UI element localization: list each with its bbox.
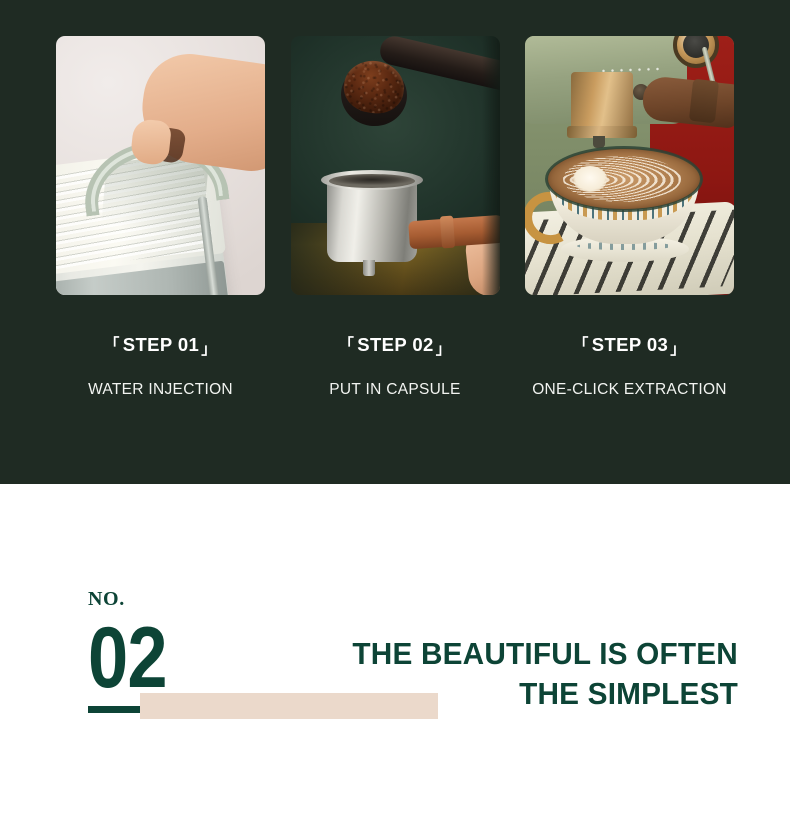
step-1-caption: 「STEP 01」 WATER INJECTION (56, 336, 265, 398)
step-captions-row: 「STEP 01」 WATER INJECTION 「STEP 02」 PUT … (56, 336, 734, 398)
sleeve-cuff-shape (689, 79, 719, 123)
step-1-description: WATER INJECTION (56, 382, 265, 398)
corner-bracket-open-icon: 「 (339, 336, 354, 353)
corner-bracket-open-icon: 「 (573, 336, 588, 353)
steps-section: KA (0, 0, 790, 484)
step-1-label: 「STEP 01」 (56, 336, 265, 357)
step-3-caption: 「STEP 03」 ONE-CLICK EXTRACTION (525, 336, 734, 398)
corner-bracket-close-icon: 」 (436, 341, 451, 358)
step-2-label-text: STEP 02 (357, 334, 434, 355)
step-3-description: ONE-CLICK EXTRACTION (525, 382, 734, 398)
headline-block: THE BEAUTIFUL IS OFTEN THE SIMPLEST (300, 634, 738, 713)
step-2-caption: 「STEP 02」 PUT IN CAPSULE (291, 336, 500, 398)
portafilter-collar-shape (439, 216, 454, 249)
product-page: KA (0, 0, 790, 824)
step-3-label-text: STEP 03 (592, 334, 669, 355)
step-3-image-card[interactable] (525, 36, 734, 295)
photo-edge-vignette (482, 36, 500, 295)
step-2-description: PUT IN CAPSULE (291, 382, 500, 398)
corner-bracket-open-icon: 「 (104, 336, 119, 353)
section-number-prefix: NO. (88, 589, 210, 609)
headline-line-2: THE SIMPLEST (318, 674, 738, 714)
portafilter-spout-shape (363, 260, 375, 276)
headline-section: NO. 02 THE BEAUTIFUL IS OFTEN THE SIMPLE… (0, 484, 790, 824)
portafilter-interior-shape (329, 174, 415, 188)
corner-bracket-close-icon: 」 (670, 341, 685, 358)
step-1-image-card[interactable]: KA (56, 36, 265, 295)
section-number-value: 02 (88, 623, 190, 694)
group-head-shape (571, 72, 633, 134)
step-images-row: KA (56, 36, 734, 295)
step-3-label: 「STEP 03」 (525, 336, 734, 357)
corner-bracket-close-icon: 」 (201, 341, 216, 358)
step-1-label-text: STEP 01 (123, 334, 200, 355)
cup-rim-shape (545, 146, 703, 212)
step-2-label: 「STEP 02」 (291, 336, 500, 357)
headline-line-1: THE BEAUTIFUL IS OFTEN (318, 634, 738, 674)
step-2-image-card[interactable] (291, 36, 500, 295)
